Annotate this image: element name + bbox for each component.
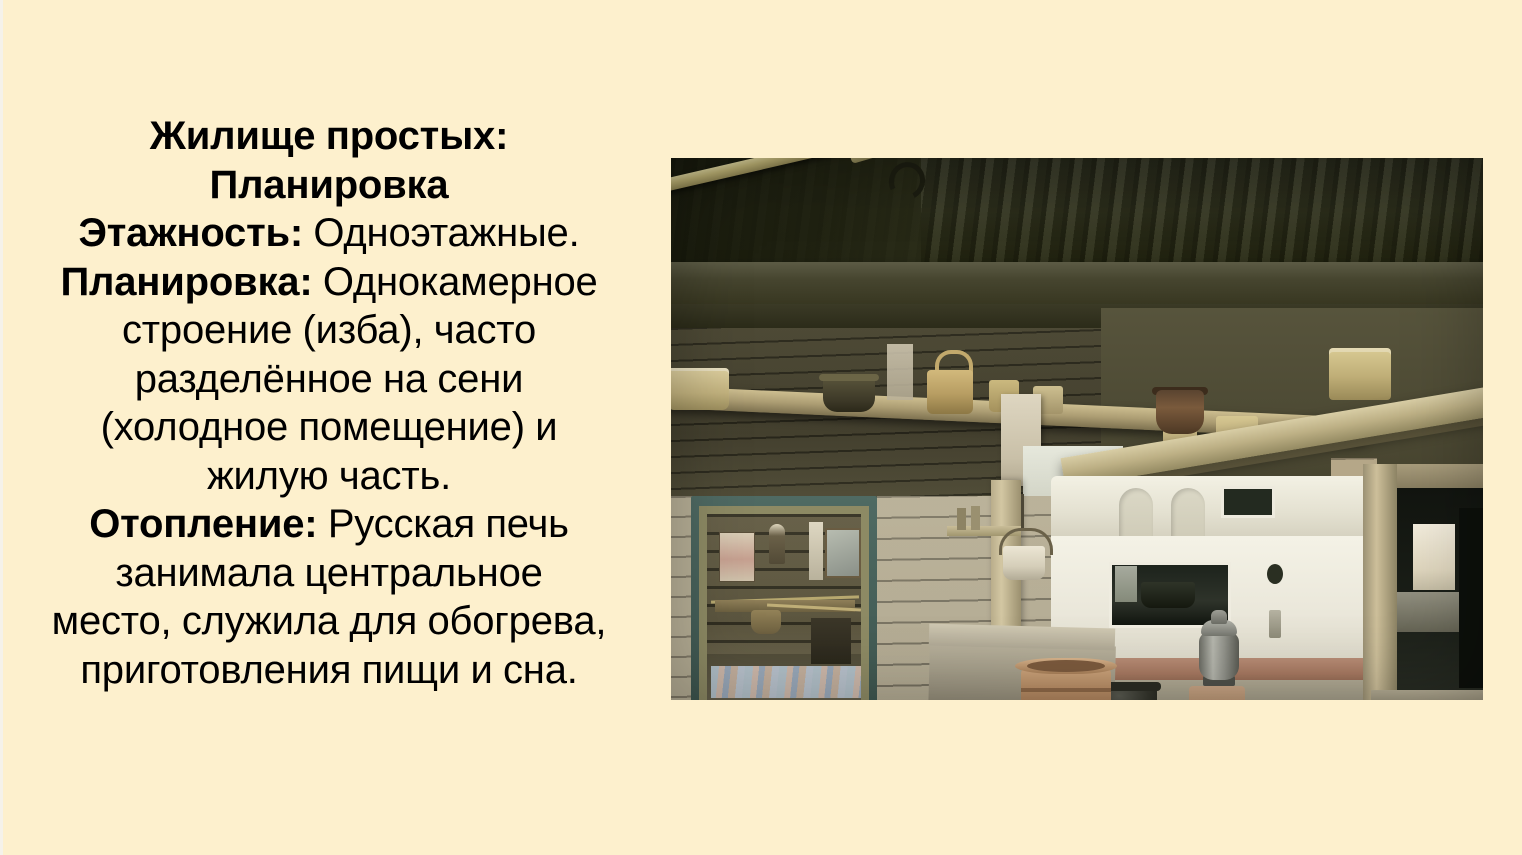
birch-bark-tub-1 (671, 368, 729, 410)
seni-basket (751, 610, 781, 634)
value-layout-1: Однокамерное (312, 260, 597, 304)
stove-round-vent-icon (1267, 564, 1283, 584)
clay-pot-large (1156, 390, 1204, 434)
label-floors: Этажность: (79, 211, 303, 255)
birch-bark-tub-2 (1329, 348, 1391, 400)
main-ceiling-beam (671, 262, 1483, 308)
doorway-opening (707, 514, 861, 700)
value-heating-3: место, служила для обогрева, (52, 599, 607, 643)
seni-hanging-towel (809, 522, 823, 580)
value-layout-2: строение (изба), часто (122, 308, 536, 352)
text-line-9: Отопление: Русская печь (3, 500, 655, 549)
hanging-bucket (1003, 546, 1045, 580)
right-doorway-post (1363, 464, 1397, 700)
text-line-3: Этажность: Одноэтажные. (3, 209, 655, 258)
post-tool-2 (971, 506, 980, 530)
wooden-stump-stand (1189, 686, 1245, 700)
stove-latch (1269, 610, 1281, 638)
text-line-5: строение (изба), часто (3, 306, 655, 355)
text-line-8: жилую часть. (3, 452, 655, 501)
seni-stool (811, 618, 851, 664)
value-heating-4: приготовления пищи и сна. (80, 648, 577, 692)
hanging-cloth-small (887, 344, 913, 400)
value-layout-4: (холодное помещение) и (101, 405, 558, 449)
value-layout-5: жилую часть. (207, 454, 451, 498)
pot-inside-stove (1141, 582, 1195, 608)
samovar-finial (1211, 610, 1227, 624)
izba-interior-photo (671, 158, 1483, 700)
label-heating: Отопление: (89, 502, 317, 546)
title-line-1: Жилище простых: (150, 114, 508, 158)
value-heating-1: Русская печь (317, 502, 568, 546)
text-line-11: место, служила для обогрева, (3, 597, 655, 646)
far-room-shadow (1459, 508, 1483, 688)
seni-mirror (825, 528, 861, 578)
title-line-2: Планировка (210, 163, 449, 207)
text-line-1: Жилище простых: (3, 112, 655, 161)
stove-top-slab (1051, 476, 1371, 542)
label-layout: Планировка: (60, 260, 312, 304)
left-wall-logs (671, 496, 693, 700)
metal-pot-shelf (823, 376, 875, 412)
slide-canvas: Жилище простых: Планировка Этажность: Од… (0, 0, 1522, 855)
bucket-chain (1021, 494, 1024, 530)
rag-rug-striped (711, 666, 861, 698)
samovar (1199, 632, 1239, 680)
right-doorway-opening (1397, 488, 1483, 700)
stove-interior-light (1115, 566, 1137, 602)
post-tool-1 (957, 508, 966, 530)
text-line-12: приготовления пищи и сна. (3, 646, 655, 695)
value-floors: Одноэтажные. (303, 211, 580, 255)
seni-wall-picture (719, 532, 755, 582)
right-doorway-sill (1371, 690, 1483, 700)
stove-vent-window (1221, 486, 1275, 518)
seni-wall-clock (769, 524, 785, 564)
slide-text-block: Жилище простых: Планировка Этажность: Од… (3, 112, 655, 694)
tub-hoop-1 (1021, 688, 1111, 692)
value-layout-3: разделённое на сени (135, 357, 523, 401)
text-line-6: разделённое на сени (3, 355, 655, 404)
birch-bark-basket (927, 370, 973, 414)
value-heating-2: занимала центральное (115, 551, 542, 595)
text-line-4: Планировка: Однокамерное (3, 258, 655, 307)
text-line-10: занимала центральное (3, 549, 655, 598)
text-line-2: Планировка (3, 161, 655, 210)
text-line-7: (холодное помещение) и (3, 403, 655, 452)
tub-interior (1027, 660, 1105, 672)
metal-pot-rim (819, 374, 879, 381)
far-window (1413, 524, 1455, 590)
